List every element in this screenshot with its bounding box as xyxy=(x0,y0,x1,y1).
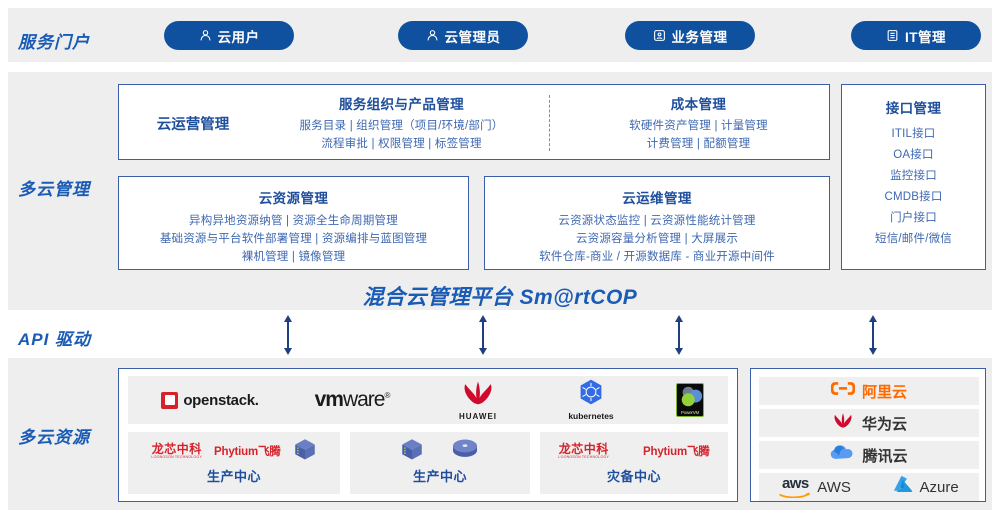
loongson-sublabel: LOONGSON TECHNOLOGY xyxy=(151,456,202,460)
section-label-api-driven: API 驱动 xyxy=(18,325,91,350)
phytium-label: Phytium飞腾 xyxy=(214,443,281,459)
datacenter-caption: 生产中心 xyxy=(128,466,340,485)
public-cloud-label: 华为云 xyxy=(862,413,907,434)
public-cloud-label: 阿里云 xyxy=(862,381,907,402)
server-cube-icon xyxy=(400,437,424,466)
column-line: 服务目录 | 组织管理（项目/环境/部门） xyxy=(259,117,544,135)
loongson-label: 龙芯中科 xyxy=(559,443,609,455)
interface-management-card: 接口管理 ITIL接口 OA接口 监控接口 CMDB接口 门户接口 短信/邮件/… xyxy=(841,84,986,270)
public-cloud-label: AWS xyxy=(817,479,851,496)
loongson-sublabel: LOONGSON TECHNOLOGY xyxy=(558,456,609,460)
huawei-cloud-icon xyxy=(831,411,855,435)
vendor-label: PowerVM xyxy=(677,410,703,415)
vendor-kubernetes: kubernetes xyxy=(536,376,646,424)
public-cloud-label: Azure xyxy=(920,479,959,496)
card-line: 云资源状态监控 | 云资源性能统计管理 xyxy=(485,212,829,230)
vendor-vmware: vmvmwareware® xyxy=(286,376,418,424)
datacenter-group-production-2: 生产中心 xyxy=(350,432,530,494)
datacenter-group-disaster-recovery: 龙芯中科 LOONGSON TECHNOLOGY Phytium飞腾 灾备中心 xyxy=(540,432,728,494)
portal-button-label: IT管理 xyxy=(905,26,946,46)
bidirectional-arrow-icon xyxy=(476,315,490,355)
column-title: 成本管理 xyxy=(566,93,831,113)
server-cube-icon xyxy=(293,437,317,466)
public-cloud-tencentcloud[interactable]: 腾讯云 xyxy=(759,441,979,469)
card-title: 云资源管理 xyxy=(119,187,468,207)
interface-item: 短信/邮件/微信 xyxy=(842,229,985,250)
column-line: 软硬件资产管理 | 计量管理 xyxy=(566,117,831,135)
bidirectional-arrow-icon xyxy=(866,315,880,355)
phytium-label: Phytium飞腾 xyxy=(643,443,710,459)
interface-item: CMDB接口 xyxy=(842,187,985,208)
section-label-service-portal: 服务门户 xyxy=(18,28,90,53)
cost-mgmt-column: 成本管理 软硬件资产管理 | 计量管理 计费管理 | 配额管理 xyxy=(566,93,831,153)
cloud-operations-card: 云运营管理 服务组织与产品管理 服务目录 | 组织管理（项目/环境/部门） 流程… xyxy=(118,84,830,160)
list-icon xyxy=(886,29,899,42)
section-label-multicloud-management: 多云管理 xyxy=(18,175,90,200)
window-icon xyxy=(653,29,666,42)
vendor-label: HUAWEI xyxy=(459,412,497,421)
user-icon xyxy=(199,29,212,42)
portal-button-cloud-admin[interactable]: 云管理员 xyxy=(398,21,528,50)
diagram-root: 服务门户 云用户 云管理员 业务管理 xyxy=(0,0,1000,518)
vmware-wordmark: vmvmwareware® xyxy=(315,388,390,412)
platform-title: 混合云管理平台 Sm@rtCOP xyxy=(0,281,1000,311)
card-line: 云资源容量分析管理 | 大屏展示 xyxy=(485,230,829,248)
service-product-mgmt-column: 服务组织与产品管理 服务目录 | 组织管理（项目/环境/部门） 流程审批 | 权… xyxy=(259,93,544,153)
public-cloud-aws-azure-row[interactable]: aws AWS Azure xyxy=(759,473,979,501)
loongson-logo: 龙芯中科 LOONGSON TECHNOLOGY xyxy=(151,443,202,460)
column-title: 服务组织与产品管理 xyxy=(259,93,544,113)
public-cloud-aws[interactable]: aws AWS xyxy=(779,476,851,498)
card-divider xyxy=(549,95,550,151)
card-line: 裸机管理 | 镜像管理 xyxy=(119,248,468,266)
vendor-label-bold: vm xyxy=(315,388,343,411)
vendor-huawei: HUAWEI xyxy=(424,376,532,424)
portal-button-label: 业务管理 xyxy=(672,26,728,46)
card-title: 云运维管理 xyxy=(485,187,829,207)
virtualization-vendor-row: openstack. vmvmwareware® HUAWEI xyxy=(128,376,728,424)
public-cloud-label: 腾讯云 xyxy=(862,445,907,466)
tencent-cloud-icon xyxy=(830,444,855,467)
portal-button-business-mgmt[interactable]: 业务管理 xyxy=(625,21,755,50)
huawei-flower-icon xyxy=(459,380,497,411)
storage-disk-icon xyxy=(450,437,480,466)
kubernetes-helm-icon xyxy=(578,379,604,410)
cloud-resource-management-card: 云资源管理 异构异地资源纳管 | 资源全生命周期管理 基础资源与平台软件部署管理… xyxy=(118,176,469,270)
powervm-icon: PowerVM xyxy=(676,383,704,417)
interface-item: 监控接口 xyxy=(842,166,985,187)
card-title: 接口管理 xyxy=(842,97,985,117)
alibaba-cloud-icon xyxy=(831,380,855,402)
interface-item: ITIL接口 xyxy=(842,124,985,145)
column-line: 计费管理 | 配额管理 xyxy=(566,135,831,153)
interface-item: 门户接口 xyxy=(842,208,985,229)
portal-button-label: 云用户 xyxy=(218,26,260,46)
public-cloud-aliyun[interactable]: 阿里云 xyxy=(759,377,979,405)
cloud-maintenance-management-card: 云运维管理 云资源状态监控 | 云资源性能统计管理 云资源容量分析管理 | 大屏… xyxy=(484,176,830,270)
card-line: 软件仓库-商业 / 开源数据库 - 商业开源中间件 xyxy=(485,248,829,266)
section-label-multicloud-resource: 多云资源 xyxy=(18,423,90,448)
card-line: 异构异地资源纳管 | 资源全生命周期管理 xyxy=(119,212,468,230)
vendor-openstack: openstack. xyxy=(140,376,280,424)
azure-icon xyxy=(892,475,914,499)
bidirectional-arrow-icon xyxy=(672,315,686,355)
openstack-icon xyxy=(161,392,178,409)
vendor-label: openstack. xyxy=(183,392,258,409)
public-cloud-card: 阿里云 华为云 腾讯云 xyxy=(750,368,986,502)
datacenter-caption: 灾备中心 xyxy=(540,466,728,485)
loongson-label: 龙芯中科 xyxy=(152,443,202,455)
public-cloud-azure[interactable]: Azure xyxy=(892,475,959,499)
bidirectional-arrow-icon xyxy=(281,315,295,355)
datacenter-caption: 生产中心 xyxy=(350,466,530,485)
loongson-logo: 龙芯中科 LOONGSON TECHNOLOGY xyxy=(558,443,609,460)
interface-item: OA接口 xyxy=(842,145,985,166)
vendor-label: kubernetes xyxy=(568,411,613,421)
aws-icon: aws xyxy=(779,476,811,498)
portal-button-cloud-user[interactable]: 云用户 xyxy=(164,21,294,50)
portal-button-it-mgmt[interactable]: IT管理 xyxy=(851,21,981,50)
cloud-operations-side-label: 云运营管理 xyxy=(137,113,249,134)
card-line: 基础资源与平台软件部署管理 | 资源编排与蓝图管理 xyxy=(119,230,468,248)
vendor-powervm: PowerVM xyxy=(650,376,730,424)
public-cloud-huaweicloud[interactable]: 华为云 xyxy=(759,409,979,437)
column-line: 流程审批 | 权限管理 | 标签管理 xyxy=(259,135,544,153)
datacenter-group-production-1: 龙芯中科 LOONGSON TECHNOLOGY Phytium飞腾 生产中心 xyxy=(128,432,340,494)
portal-button-label: 云管理员 xyxy=(445,26,501,46)
user-icon xyxy=(426,29,439,42)
